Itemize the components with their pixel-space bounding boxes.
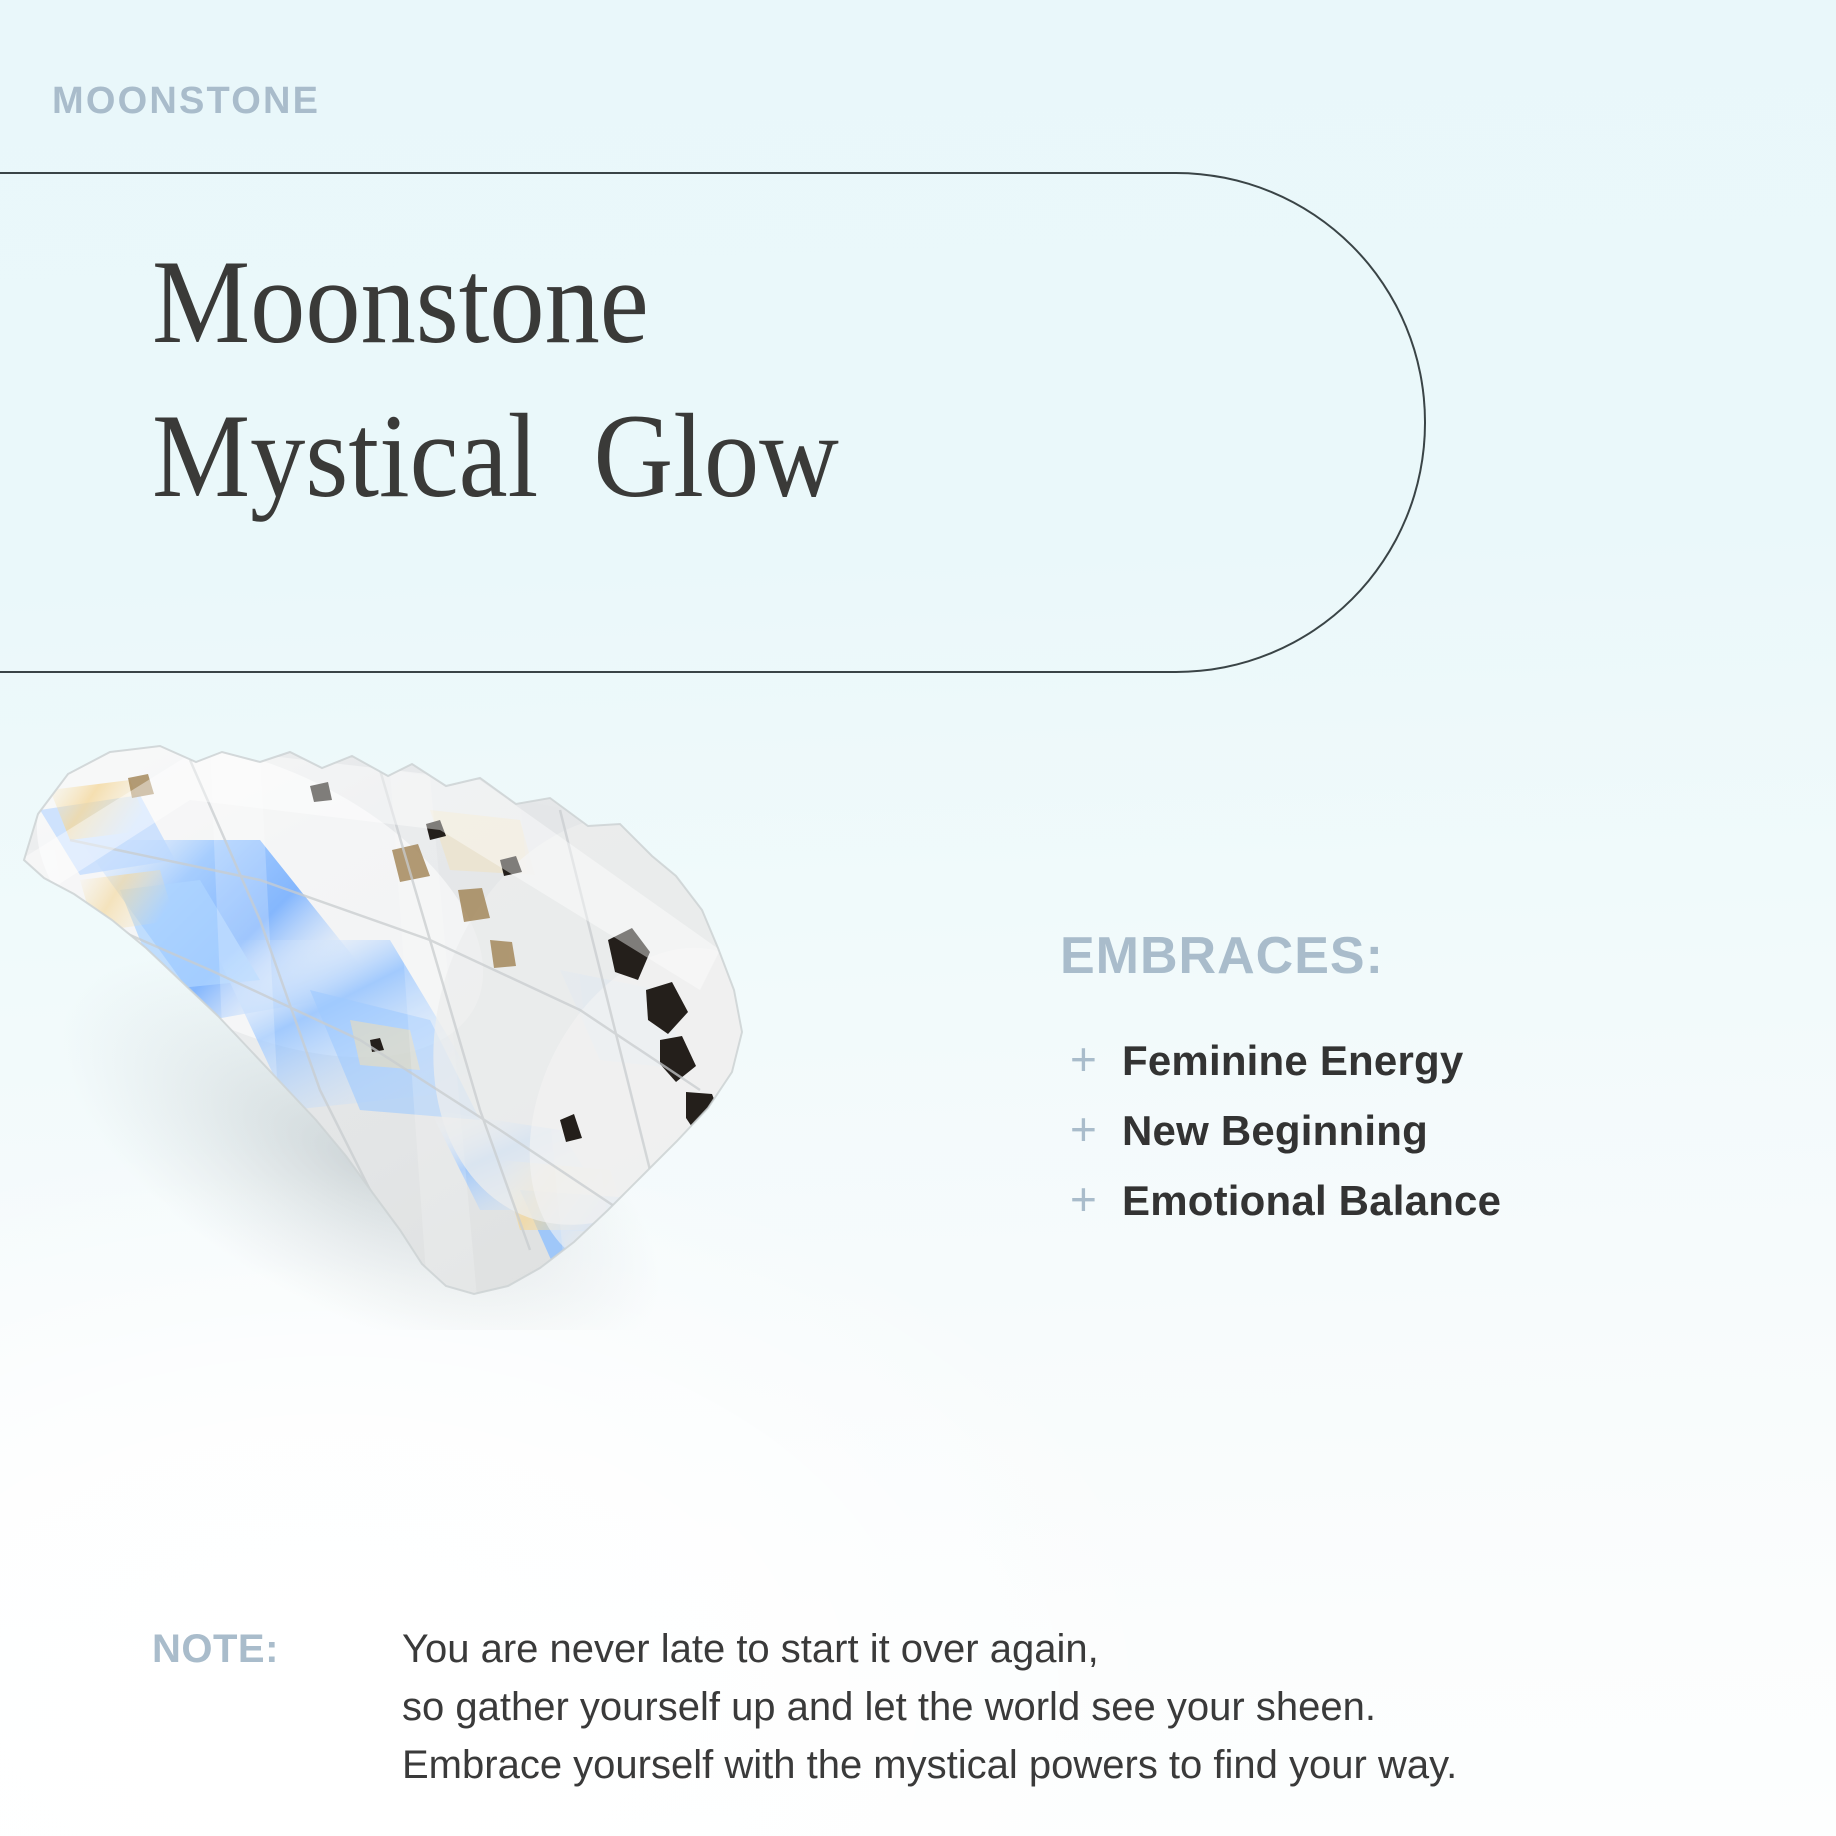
plus-icon: + bbox=[1070, 1106, 1122, 1152]
embraces-list: + Feminine Energy + New Beginning + Emot… bbox=[1060, 1036, 1790, 1222]
embraces-heading: EMBRACES: bbox=[1060, 930, 1790, 982]
note-body: You are never late to start it over agai… bbox=[402, 1620, 1812, 1794]
plus-icon: + bbox=[1070, 1036, 1122, 1082]
embrace-label: Feminine Energy bbox=[1122, 1040, 1463, 1082]
page-title: Moonstone Mystical Glow bbox=[152, 225, 1352, 532]
note-line: Embrace yourself with the mystical power… bbox=[402, 1736, 1812, 1794]
moonstone-poster: MOONSTONE Moonstone Mystical Glow bbox=[0, 0, 1836, 1836]
note-line: so gather yourself up and let the world … bbox=[402, 1678, 1812, 1736]
list-item: + Feminine Energy bbox=[1070, 1036, 1790, 1082]
embrace-label: Emotional Balance bbox=[1122, 1180, 1501, 1222]
list-item: + New Beginning bbox=[1070, 1106, 1790, 1152]
note-label: NOTE: bbox=[152, 1620, 402, 1678]
embrace-label: New Beginning bbox=[1122, 1110, 1428, 1152]
title-line-2: Mystical Glow bbox=[152, 379, 1256, 533]
moonstone-image bbox=[0, 690, 860, 1330]
page-eyebrow-label: MOONSTONE bbox=[52, 82, 320, 120]
plus-icon: + bbox=[1070, 1176, 1122, 1222]
list-item: + Emotional Balance bbox=[1070, 1176, 1790, 1222]
title-line-1: Moonstone bbox=[152, 225, 1256, 379]
embraces-panel: EMBRACES: + Feminine Energy + New Beginn… bbox=[1060, 930, 1790, 1246]
moonstone-illustration bbox=[0, 690, 860, 1330]
note-block: NOTE: You are never late to start it ove… bbox=[152, 1620, 1812, 1794]
note-line: You are never late to start it over agai… bbox=[402, 1620, 1812, 1678]
